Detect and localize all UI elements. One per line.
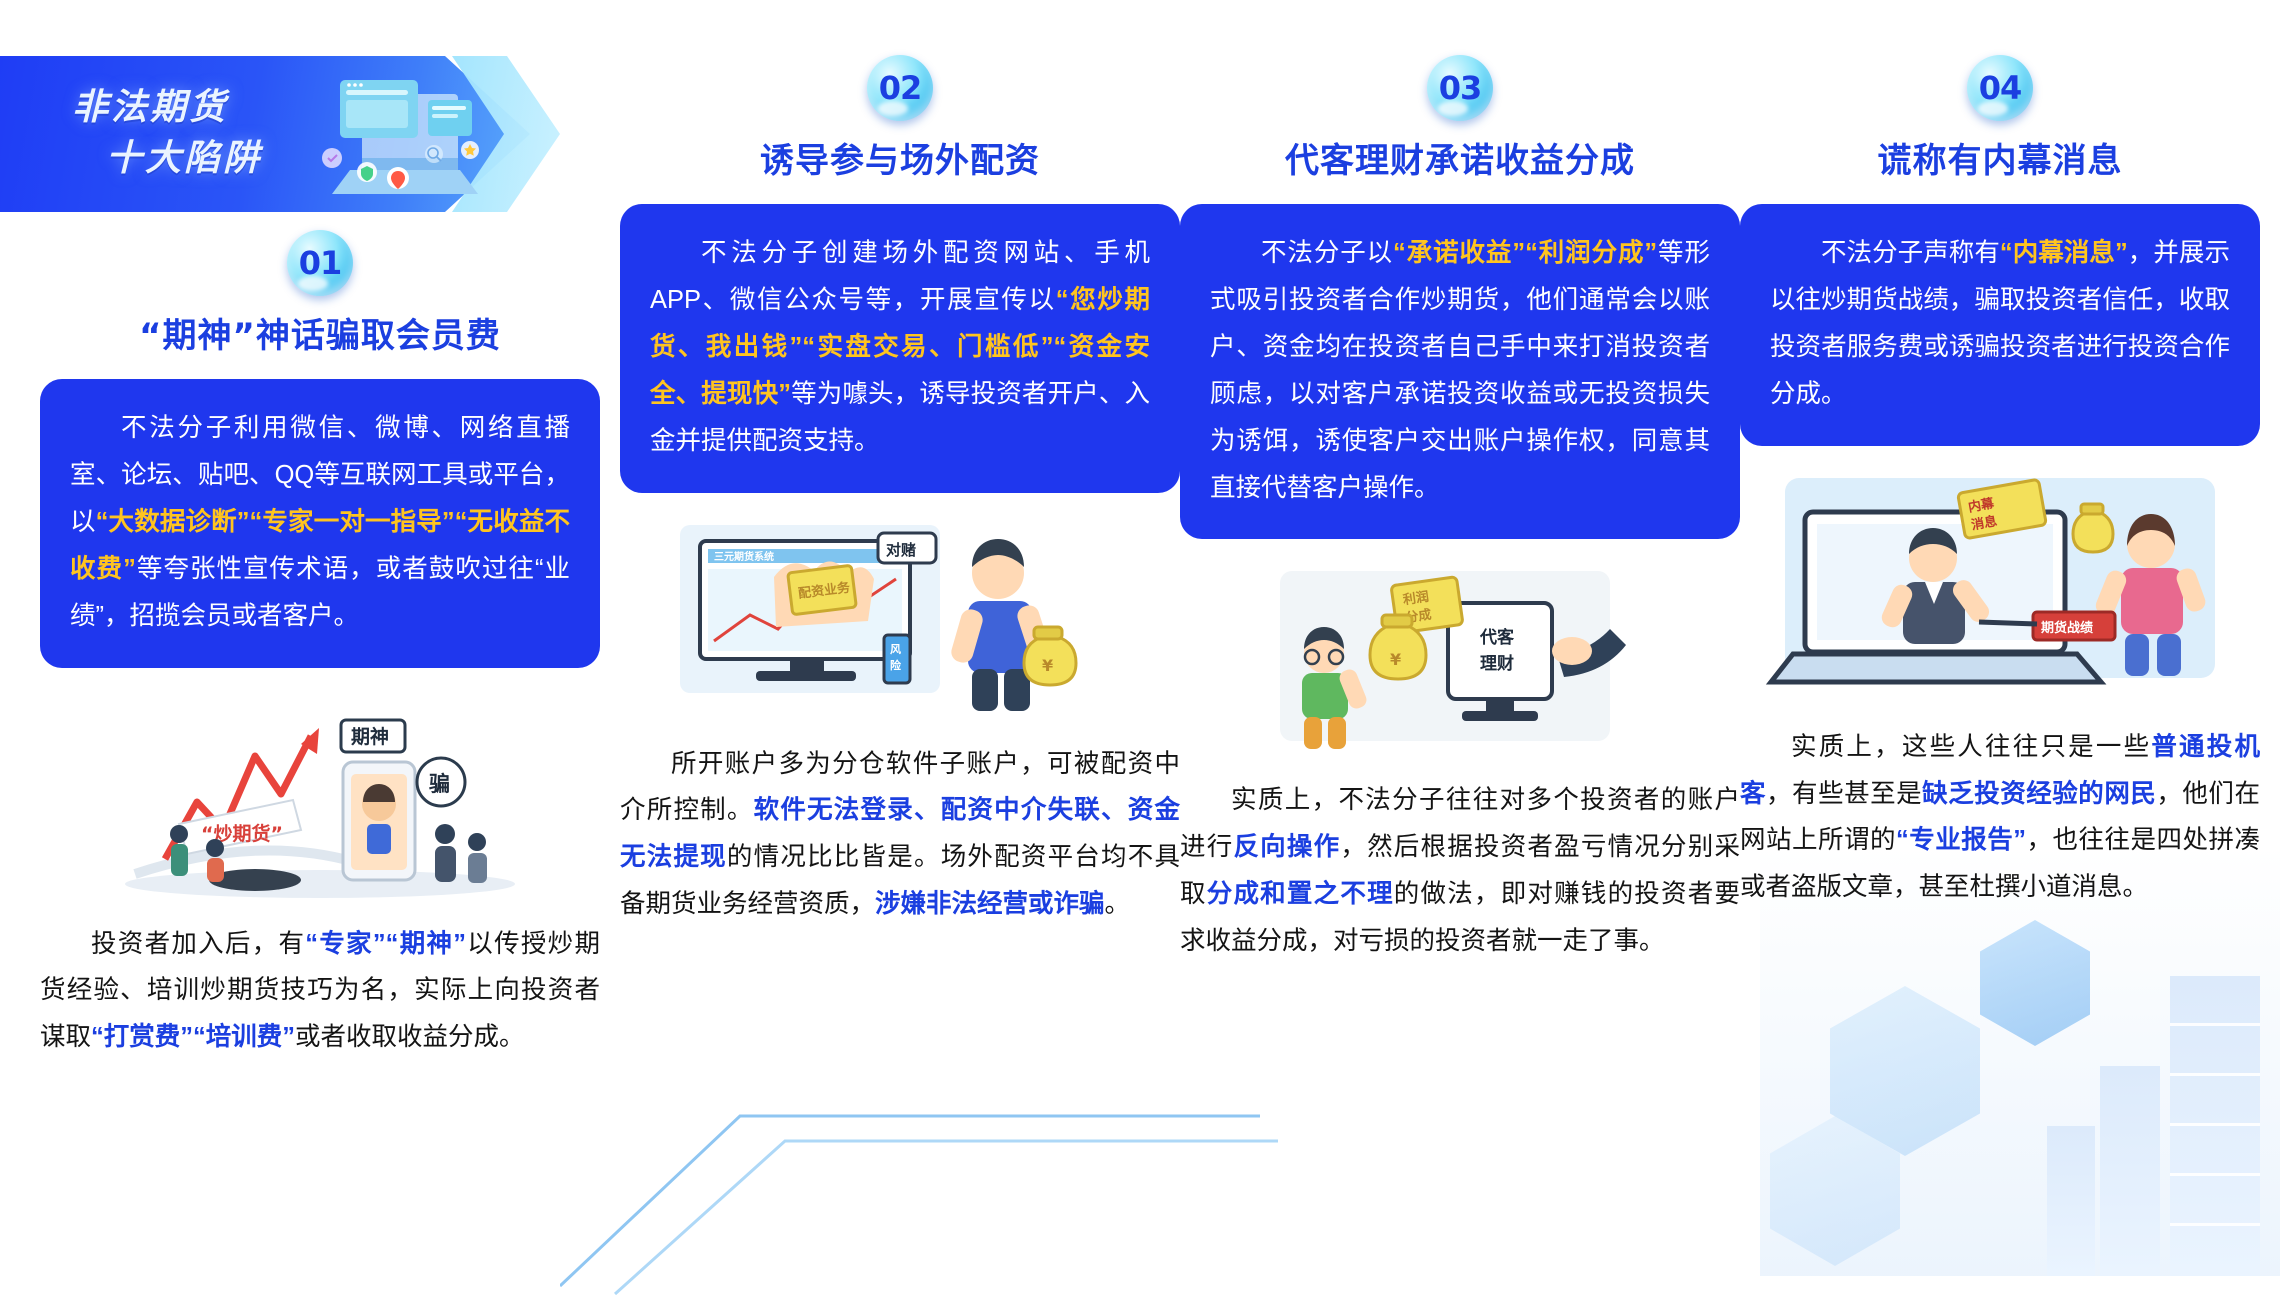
ribbon-decoration <box>560 1036 1280 1296</box>
svg-text:对赌: 对赌 <box>886 541 916 559</box>
text-segment: “培训费” <box>193 1023 295 1051</box>
building-line <box>2170 1173 2260 1176</box>
column-03: 03 代客理财承诺收益分成 不法分子以“承诺收益”“利润分成”等形式吸引投资者合… <box>1180 55 1740 965</box>
footer-paragraph-04: 实质上，这些人往往只是一些普通投机客，有些甚至是缺乏投资经验的网民，他们在网站上… <box>1740 724 2260 912</box>
building-decoration <box>2170 976 2260 1276</box>
text-segment: 反向操作 <box>1233 833 1340 861</box>
text-segment: ，有些甚至是 <box>1766 780 1922 808</box>
svg-text:代客: 代客 <box>1479 627 1515 648</box>
svg-text:¥: ¥ <box>1390 650 1401 669</box>
text-segment: 分成和置之不理 <box>1207 880 1394 908</box>
column-title-01: “期神”神话骗取会员费 <box>40 308 600 357</box>
footer-text-04: 实质上，这些人往往只是一些普通投机客，有些甚至是缺乏投资经验的网民，他们在网站上… <box>1740 724 2260 912</box>
info-box-text-02: 不法分子创建场外配资网站、手机APP、微信公众号等，开展宣传以“您炒期货、我出钱… <box>650 230 1150 465</box>
banner-title: 非法期货 十大陷阱 <box>72 82 342 184</box>
text-segment: “专家” <box>305 930 385 958</box>
text-segment: “打赏费” <box>91 1023 193 1051</box>
hexagon-decoration <box>1980 920 2090 1046</box>
info-box-02: 不法分子创建场外配资网站、手机APP、微信公众号等，开展宣传以“您炒期货、我出钱… <box>620 204 1180 493</box>
text-segment: 不法分子声称有 <box>1821 239 2000 267</box>
step-number-02: 02 <box>879 69 922 107</box>
building-decoration <box>2047 1126 2095 1276</box>
info-box-text-03: 不法分子以“承诺收益”“利润分成”等形式吸引投资者合作炒期货，他们通常会以账户、… <box>1210 230 1710 511</box>
column-title-03: 代客理财承诺收益分成 <box>1180 133 1740 182</box>
building-line <box>2170 1123 2260 1126</box>
svg-text:¥: ¥ <box>1042 656 1053 675</box>
illustration-03: 代客 理财 利润 分成 ¥ <box>1240 565 1680 755</box>
svg-text:期神: 期神 <box>351 725 389 748</box>
footer-paragraph-02: 所开账户多为分仓软件子账户，可被配资中介所控制。软件无法登录、配资中介失联、资金… <box>620 741 1180 929</box>
info-box-text-04: 不法分子声称有“内幕消息”，并展示以往炒期货战绩，骗取投资者信任，收取投资者服务… <box>1770 230 2230 418</box>
info-box-text-01: 不法分子利用微信、微博、网络直播室、论坛、贴吧、QQ等互联网工具或平台，以“大数… <box>70 405 570 640</box>
info-box-04: 不法分子声称有“内幕消息”，并展示以往炒期货战绩，骗取投资者信任，收取投资者服务… <box>1740 204 2260 446</box>
text-segment: 涉嫌非法经营或诈骗 <box>875 890 1105 918</box>
info-box-03: 不法分子以“承诺收益”“利润分成”等形式吸引投资者合作炒期货，他们通常会以账户、… <box>1180 204 1740 539</box>
footer-text-02: 所开账户多为分仓软件子账户，可被配资中介所控制。软件无法登录、配资中介失联、资金… <box>620 741 1180 929</box>
text-segment: 等形式吸引投资者合作炒期货，他们通常会以账户、资金均在投资者自己手中来打消投资者… <box>1210 239 1710 502</box>
step-number-01: 01 <box>299 244 342 282</box>
banner-title-line1: 非法期货 <box>72 87 228 128</box>
text-segment: “内幕消息” <box>2000 239 2128 267</box>
info-box-01: 不法分子利用微信、微博、网络直播室、论坛、贴吧、QQ等互联网工具或平台，以“大数… <box>40 379 600 668</box>
step-number-03: 03 <box>1439 69 1482 107</box>
column-01: 01 “期神”神话骗取会员费 不法分子利用微信、微博、网络直播室、论坛、贴吧、Q… <box>40 230 600 1061</box>
svg-text:险: 险 <box>890 658 902 672</box>
footer-paragraph-01: 投资者加入后，有“专家”“期神”以传授炒期货经验、培训炒期货技巧为名，实际上向投… <box>40 921 600 1062</box>
illustration-01: “炒期货” 期神 骗 <box>105 684 535 899</box>
text-segment: “专业报告” <box>1896 826 2026 854</box>
illustration-04: 内幕 消息 期货战绩 <box>1765 472 2235 702</box>
illustration-02: 三元期货系统 配资业务 风 险 对赌 <box>670 519 1130 719</box>
banner-title-line2: 十大陷阱 <box>106 133 342 184</box>
svg-text:风: 风 <box>890 642 901 656</box>
svg-text:三元期货系统: 三元期货系统 <box>714 550 774 563</box>
text-segment: 。 <box>1105 890 1131 918</box>
svg-text:期货战绩: 期货战绩 <box>2041 620 2093 636</box>
text-segment: “承诺收益” <box>1393 239 1525 267</box>
text-segment: “实盘交易、门槛低” <box>802 333 1053 361</box>
step-number-04: 04 <box>1979 69 2022 107</box>
svg-text:理财: 理财 <box>1480 653 1514 674</box>
column-title-04: 谎称有内幕消息 <box>1740 133 2260 182</box>
text-segment: “利润分成” <box>1525 239 1657 267</box>
building-decoration <box>2100 1066 2160 1276</box>
header-banner: 非法期货 十大陷阱 <box>0 56 560 212</box>
text-segment: 实质上，这些人往往只是一些 <box>1791 733 2151 761</box>
text-segment: 投资者加入后，有 <box>91 930 305 958</box>
building-line <box>2170 1223 2260 1226</box>
text-segment: “大数据诊断” <box>96 508 250 536</box>
text-segment: “期神” <box>386 930 466 958</box>
text-segment: 缺乏投资经验的网民 <box>1922 780 2156 808</box>
footer-text-03: 实质上，不法分子往往对多个投资者的账户进行反向操作，然后根据投资者盈亏情况分别采… <box>1180 777 1740 965</box>
laptop-illustration-icon <box>310 70 500 210</box>
column-title-02: 诱导参与场外配资 <box>620 133 1180 182</box>
step-number-badge-03: 03 <box>1427 55 1493 121</box>
text-segment: 等夸张性宣传术语，或者鼓吹过往“业绩”，招揽会员或者客户。 <box>70 555 570 630</box>
step-number-badge-04: 04 <box>1967 55 2033 121</box>
building-line <box>2170 1023 2260 1026</box>
step-number-badge-02: 02 <box>867 55 933 121</box>
column-04: 04 谎称有内幕消息 不法分子声称有“内幕消息”，并展示以往炒期货战绩，骗取投资… <box>1740 55 2260 911</box>
text-segment: “专家一对一指导” <box>250 508 455 536</box>
footer-text-01: 投资者加入后，有“专家”“期神”以传授炒期货经验、培训炒期货技巧为名，实际上向投… <box>40 921 600 1062</box>
footer-paragraph-03: 实质上，不法分子往往对多个投资者的账户进行反向操作，然后根据投资者盈亏情况分别采… <box>1180 777 1740 965</box>
building-line <box>2170 1073 2260 1076</box>
step-number-badge-01: 01 <box>287 230 353 296</box>
column-02: 02 诱导参与场外配资 不法分子创建场外配资网站、手机APP、微信公众号等，开展… <box>620 55 1180 928</box>
text-segment: 不法分子以 <box>1261 239 1393 267</box>
svg-text:骗: 骗 <box>429 772 450 796</box>
text-segment: 或者收取收益分成。 <box>295 1023 525 1051</box>
